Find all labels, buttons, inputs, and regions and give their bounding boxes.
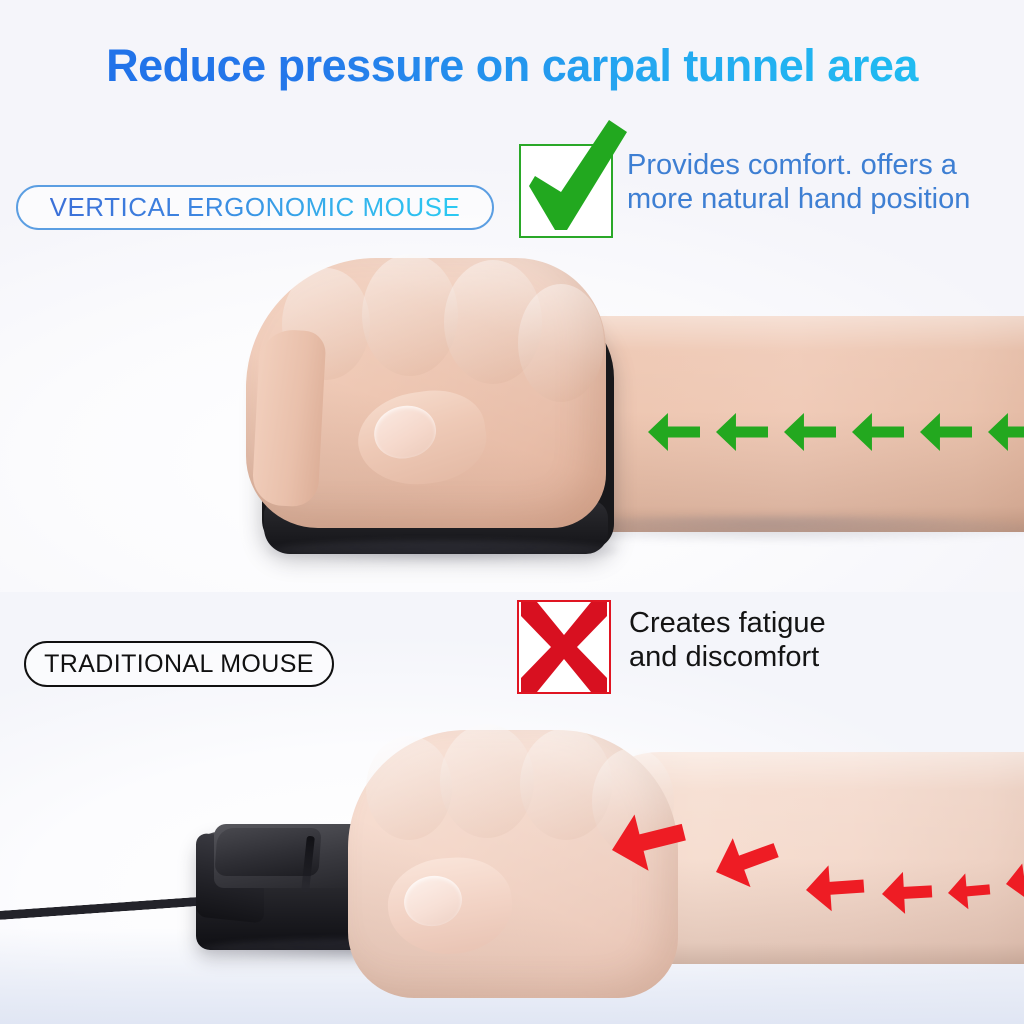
verdict-negative-line-2: and discomfort (629, 640, 826, 674)
page-title: Reduce pressure on carpal tunnel area (0, 40, 1024, 92)
index-finger-vertical (251, 328, 326, 507)
knuckle (366, 736, 452, 840)
verdict-positive: Provides comfort. offers a more natural … (519, 144, 970, 238)
hand-on-traditional-mouse (348, 730, 678, 998)
label-vertical-ergonomic-mouse-text: VERTICAL ERGONOMIC MOUSE (50, 192, 461, 223)
check-box (519, 144, 613, 238)
cross-box (517, 600, 611, 694)
verdict-positive-text: Provides comfort. offers a more natural … (627, 144, 970, 216)
verdict-positive-line-1: Provides comfort. offers a (627, 148, 970, 182)
label-traditional-mouse-text: TRADITIONAL MOUSE (44, 650, 314, 679)
knuckle (518, 284, 604, 402)
label-vertical-ergonomic-mouse[interactable]: VERTICAL ERGONOMIC MOUSE (16, 185, 494, 230)
verdict-negative-text: Creates fatigue and discomfort (629, 600, 826, 674)
vertical-mouse-shadow (268, 540, 618, 562)
label-traditional-mouse[interactable]: TRADITIONAL MOUSE (24, 641, 334, 687)
verdict-negative-line-1: Creates fatigue (629, 606, 826, 640)
knuckle (592, 748, 674, 854)
infographic-canvas: Reduce pressure on carpal tunnel area VE… (0, 0, 1024, 1024)
cross-icon (519, 602, 609, 692)
verdict-positive-line-2: more natural hand position (627, 182, 970, 216)
verdict-negative: Creates fatigue and discomfort (517, 600, 826, 694)
